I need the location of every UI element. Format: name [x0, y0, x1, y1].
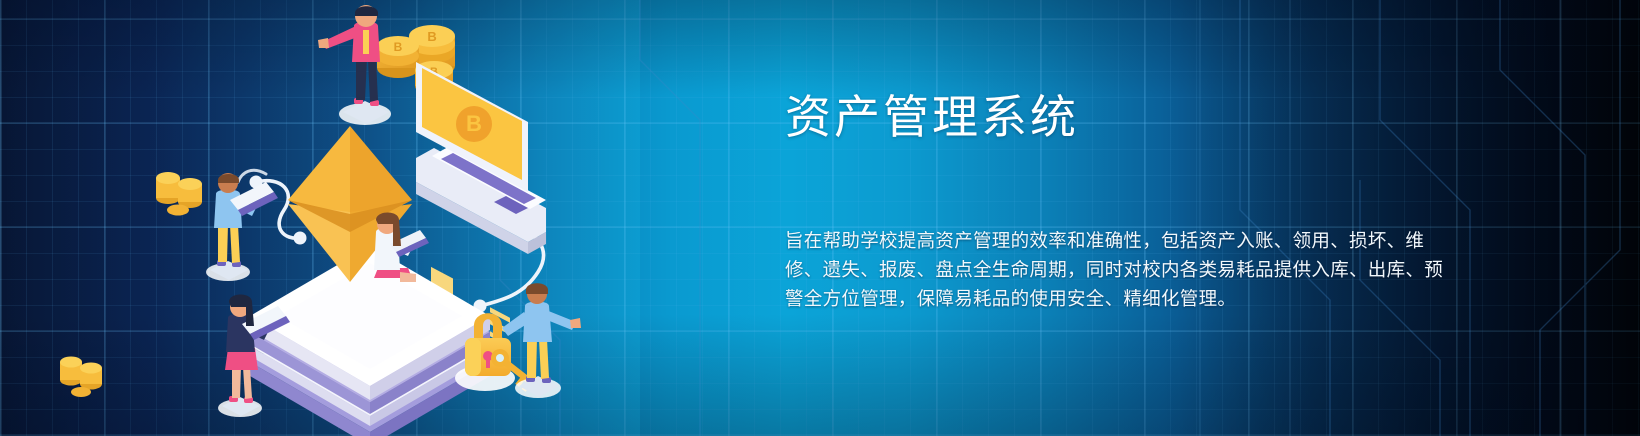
- page-description: 旨在帮助学校提高资产管理的效率和准确性，包括资产入账、领用、损坏、维 修、遗失、…: [785, 226, 1467, 313]
- page-description-line-2: 修、遗失、报废、盘点全生命周期，同时对校内各类易耗品提供入库、出库、预: [785, 259, 1443, 280]
- svg-text:B: B: [466, 111, 482, 136]
- person-blue-shirt-laptop-left: [206, 173, 278, 281]
- coin-stack-mid-icon: B: [377, 36, 419, 78]
- page-title: 资产管理系统: [785, 92, 1079, 143]
- page-description-line-1: 旨在帮助学校提高资产管理的效率和准确性，包括资产入账、领用、损坏、维: [785, 230, 1424, 251]
- person-seated-laptop: [374, 213, 429, 283]
- platform-stack-icon: [250, 246, 490, 436]
- hero-copy-block: 资产管理系统 旨在帮助学校提高资产管理的效率和准确性，包括资产入账、领用、损坏、…: [785, 0, 1485, 436]
- hero-illustration: B B B: [60, 0, 620, 436]
- asset-management-hero-banner: B B B: [0, 0, 1640, 436]
- svg-text:B: B: [427, 29, 436, 44]
- page-description-line-3: 警全方位管理，保障易耗品的使用安全、精细化管理。: [785, 288, 1236, 309]
- svg-text:B: B: [394, 40, 403, 54]
- coin-stack-left-upper-icon: [156, 172, 202, 216]
- coin-stack-left-lower-icon: [60, 357, 102, 398]
